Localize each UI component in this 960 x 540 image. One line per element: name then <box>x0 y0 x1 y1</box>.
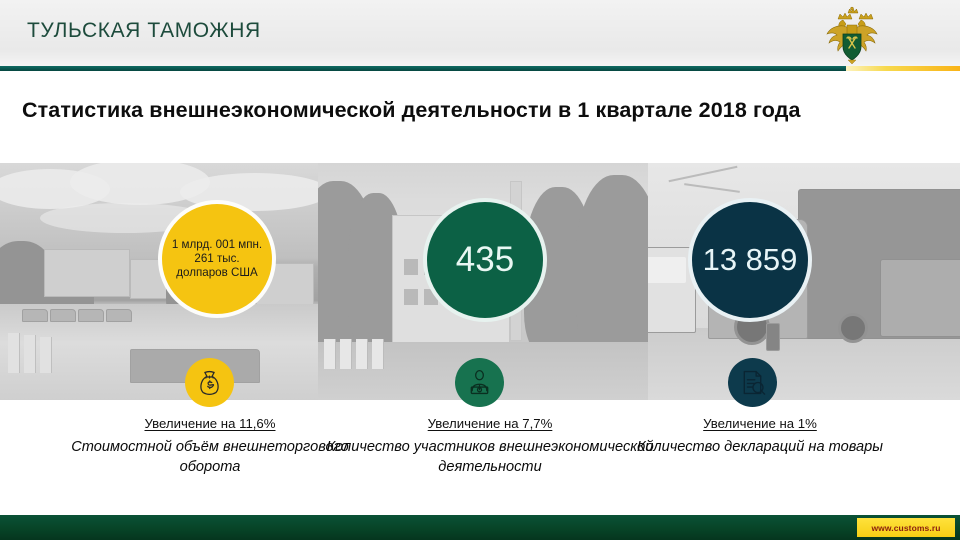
slide-header: ТУЛЬСКАЯ ТАМОЖНЯ <box>0 0 960 66</box>
stat-bubble-participants-count: 435 <box>423 198 547 322</box>
slide-title: Статистика внешнеэкономической деятельно… <box>22 98 938 123</box>
growth-label-declarations: Увеличение на 1% <box>592 416 928 431</box>
document-magnifier-declaration-icon <box>728 358 777 407</box>
caption-column-declarations: Увеличение на 1% Количество деклараций н… <box>592 416 928 458</box>
description-declarations: Количество деклараций на товары <box>592 438 928 458</box>
presentation-slide: ТУЛЬСКАЯ ТАМОЖНЯ <box>0 0 960 540</box>
person-participant-icon <box>455 358 504 407</box>
money-bag-dollar-icon <box>185 358 234 407</box>
website-badge-text: www.customs.ru <box>871 523 940 533</box>
stat-bubble-declarations-count: 13 859 <box>688 198 812 322</box>
slide-footer-bar <box>0 515 960 540</box>
stat-bubble-trade-value: 1 млрд. 001 мпн. 261 тыс. долпаров США <box>158 200 276 318</box>
divider-gold-segment <box>846 66 960 71</box>
organization-title: ТУЛЬСКАЯ ТАМОЖНЯ <box>27 19 261 43</box>
divider-green-segment <box>0 66 846 71</box>
header-divider-rule <box>0 66 960 71</box>
russian-customs-double-headed-eagle-emblem <box>824 6 880 64</box>
website-badge[interactable]: www.customs.ru <box>857 518 955 537</box>
